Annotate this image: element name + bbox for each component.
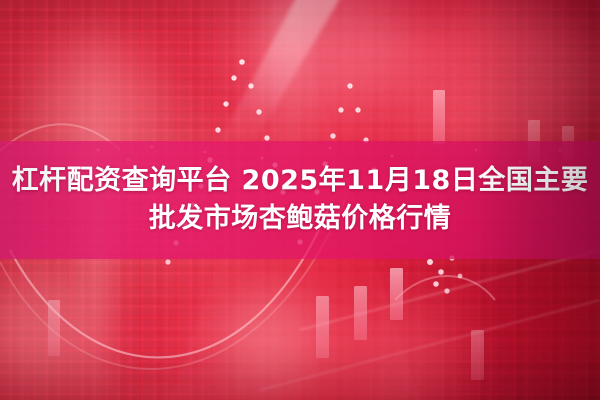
candlestick-bar bbox=[433, 90, 445, 144]
candlestick-bar bbox=[354, 286, 367, 340]
title-band: 杠杆配资查询平台 2025年11月18日全国主要 批发市场杏鲍菇价格行情 bbox=[0, 141, 600, 259]
candlestick-bar bbox=[390, 268, 403, 320]
title-line-2: 批发市场杏鲍菇价格行情 bbox=[149, 200, 452, 238]
banner-image: 杠杆配资查询平台 2025年11月18日全国主要 批发市场杏鲍菇价格行情 bbox=[0, 0, 600, 400]
candlestick-bar bbox=[48, 300, 60, 356]
candlestick-bar bbox=[316, 296, 329, 358]
candlestick-bar bbox=[471, 330, 484, 380]
title-line-1: 杠杆配资查询平台 2025年11月18日全国主要 bbox=[12, 162, 589, 200]
arc-line-4 bbox=[395, 276, 495, 300]
